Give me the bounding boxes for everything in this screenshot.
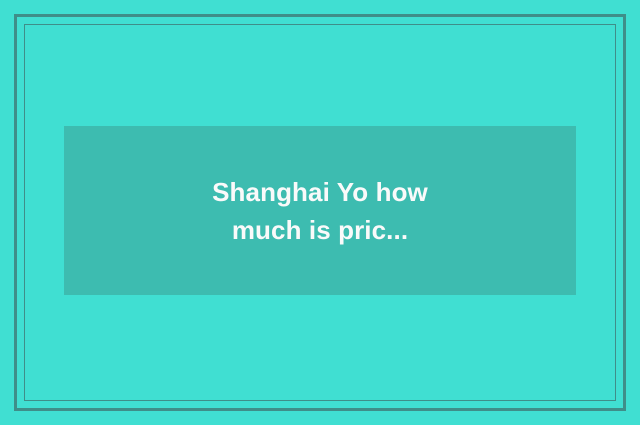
content-panel[interactable]: Shanghai Yo how much is pric... — [64, 126, 576, 295]
card-canvas: Shanghai Yo how much is pric... — [0, 0, 640, 425]
panel-title: Shanghai Yo how much is pric... — [64, 173, 576, 249]
